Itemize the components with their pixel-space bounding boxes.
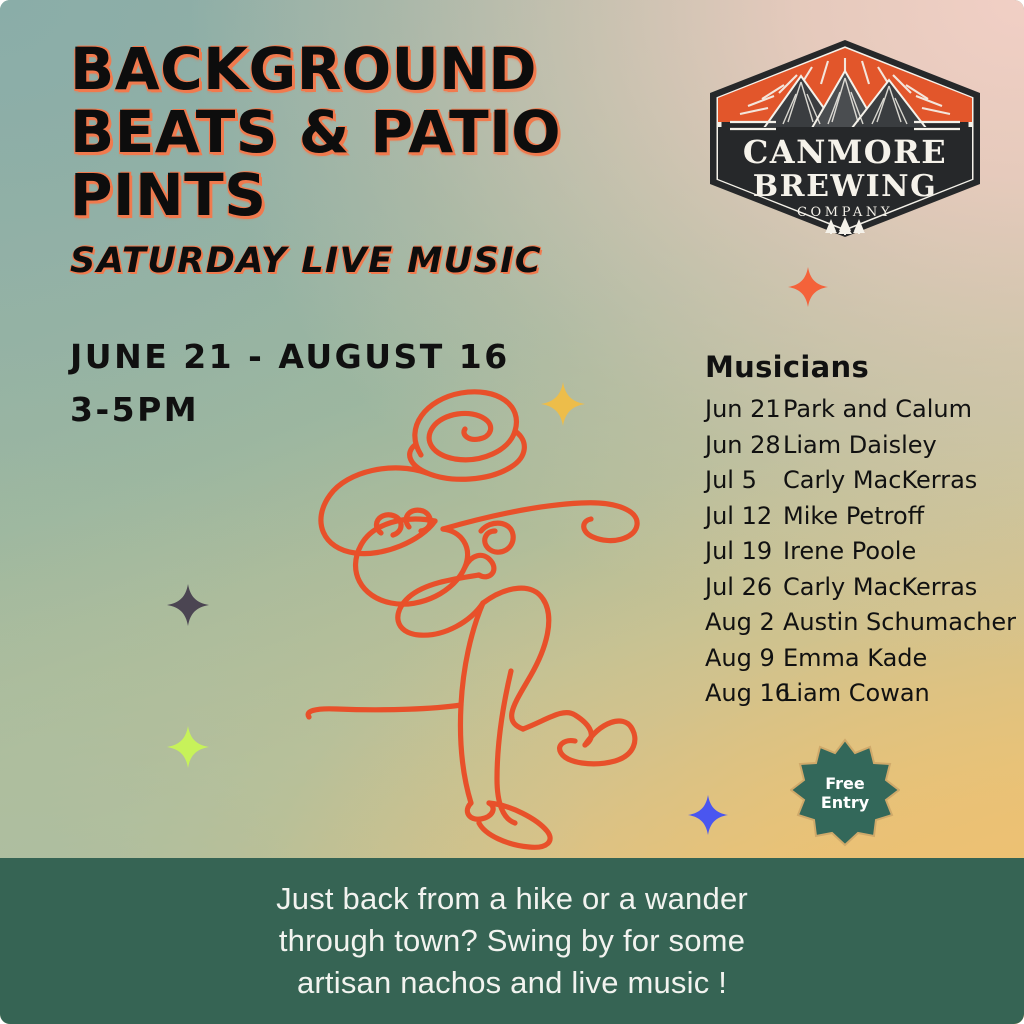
headline-line-1: BACKGROUND <box>70 38 690 101</box>
musician-date: Jul 19 <box>705 534 783 570</box>
banner-line-2: through town? Swing by for some <box>162 920 862 962</box>
musician-date: Aug 9 <box>705 641 783 677</box>
musician-row: Jun 21Park and Calum <box>705 392 1005 428</box>
musician-date: Jul 5 <box>705 463 783 499</box>
musician-name: Mike Petroff <box>783 499 924 535</box>
sparkle-blue-icon <box>688 795 728 835</box>
headline-line-3: PINTS <box>70 164 690 227</box>
banner-line-3: artisan nachos and live music ! <box>162 962 862 1004</box>
musician-name: Austin Schumacher <box>783 605 1016 641</box>
musician-date: Jul 26 <box>705 570 783 606</box>
musician-row: Jun 28Liam Daisley <box>705 428 1005 464</box>
banner-line-1: Just back from a hike or a wander <box>162 878 862 920</box>
musician-row: Jul 19Irene Poole <box>705 534 1005 570</box>
musician-row: Aug 9Emma Kade <box>705 641 1005 677</box>
headline-subtitle: SATURDAY LIVE MUSIC <box>70 241 690 281</box>
logo-pine-trees <box>825 217 865 235</box>
headline-line-2: BEATS & PATIO <box>70 101 690 164</box>
musician-row: Aug 2Austin Schumacher <box>705 605 1005 641</box>
musician-date: Jul 12 <box>705 499 783 535</box>
sparkle-orange-icon <box>788 267 828 307</box>
canmore-brewing-logo: CANMORE BREWING COMPANY <box>700 36 990 241</box>
banner-text: Just back from a hike or a wander throug… <box>162 878 862 1004</box>
free-entry-badge: Free Entry <box>790 738 900 848</box>
sparkle-green-icon <box>167 726 209 768</box>
event-poster: BACKGROUND BEATS & PATIO PINTS SATURDAY … <box>0 0 1024 1024</box>
guitarist-line-art <box>275 375 675 855</box>
sparkle-gold-icon <box>541 382 585 426</box>
musician-date: Jun 28 <box>705 428 783 464</box>
musician-date: Aug 2 <box>705 605 783 641</box>
musicians-title: Musicians <box>705 350 1005 384</box>
musician-row: Jul 26Carly MacKerras <box>705 570 1005 606</box>
musician-name: Emma Kade <box>783 641 927 677</box>
musician-date: Jun 21 <box>705 392 783 428</box>
musicians-block: Musicians Jun 21Park and CalumJun 28Liam… <box>705 350 1005 712</box>
musician-name: Carly MacKerras <box>783 570 977 606</box>
musicians-list: Jun 21Park and CalumJun 28Liam DaisleyJu… <box>705 392 1005 712</box>
musician-row: Aug 16Liam Cowan <box>705 676 1005 712</box>
sparkle-gray-icon <box>167 584 209 626</box>
bottom-banner: Just back from a hike or a wander throug… <box>0 858 1024 1024</box>
musician-name: Irene Poole <box>783 534 916 570</box>
headline-block: BACKGROUND BEATS & PATIO PINTS SATURDAY … <box>70 38 690 281</box>
free-entry-label: Free Entry <box>790 738 900 848</box>
musician-row: Jul 5Carly MacKerras <box>705 463 1005 499</box>
musician-date: Aug 16 <box>705 676 783 712</box>
musician-name: Liam Daisley <box>783 428 937 464</box>
musician-name: Liam Cowan <box>783 676 930 712</box>
free-entry-line-1: Free <box>825 774 865 793</box>
musician-row: Jul 12Mike Petroff <box>705 499 1005 535</box>
logo-text-canmore: CANMORE <box>743 133 947 171</box>
logo-text-brewing: BREWING <box>753 169 937 204</box>
musician-name: Park and Calum <box>783 392 972 428</box>
musician-name: Carly MacKerras <box>783 463 977 499</box>
free-entry-line-2: Entry <box>821 793 869 812</box>
